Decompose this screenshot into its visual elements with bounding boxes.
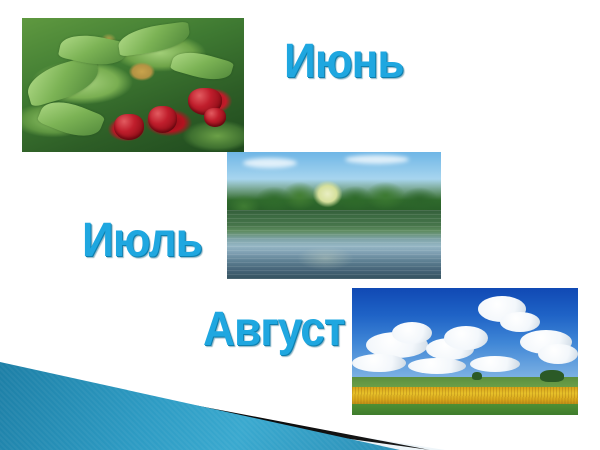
cloud-shape (352, 354, 406, 372)
cloud-shape (408, 358, 466, 374)
berry-shape (114, 114, 144, 140)
treeline-region (227, 179, 441, 213)
label-july: Июль (82, 217, 202, 265)
tree-shape (540, 370, 564, 382)
berry-shape (148, 106, 177, 133)
leaf-shape (117, 21, 192, 57)
cloud-shape (243, 158, 297, 168)
crop-field-region (352, 387, 578, 405)
photo-field (352, 288, 578, 415)
leaf-shape (170, 46, 234, 86)
near-grass-region (352, 404, 578, 415)
slide-canvas: Июнь Июль Август (0, 0, 600, 450)
cloud-shape (470, 356, 520, 372)
cloud-shape (392, 322, 432, 344)
photo-raspberry (22, 18, 244, 152)
cloud-shape (500, 312, 540, 332)
tree-shape (472, 372, 482, 380)
cloud-shape (444, 326, 488, 350)
water-reflection (227, 210, 441, 279)
label-august: Август (203, 306, 345, 354)
photo-lake (227, 152, 441, 279)
label-june: Июнь (284, 38, 404, 86)
cloud-shape (345, 155, 409, 164)
cloud-shape (538, 344, 578, 364)
berry-shape (204, 108, 226, 127)
